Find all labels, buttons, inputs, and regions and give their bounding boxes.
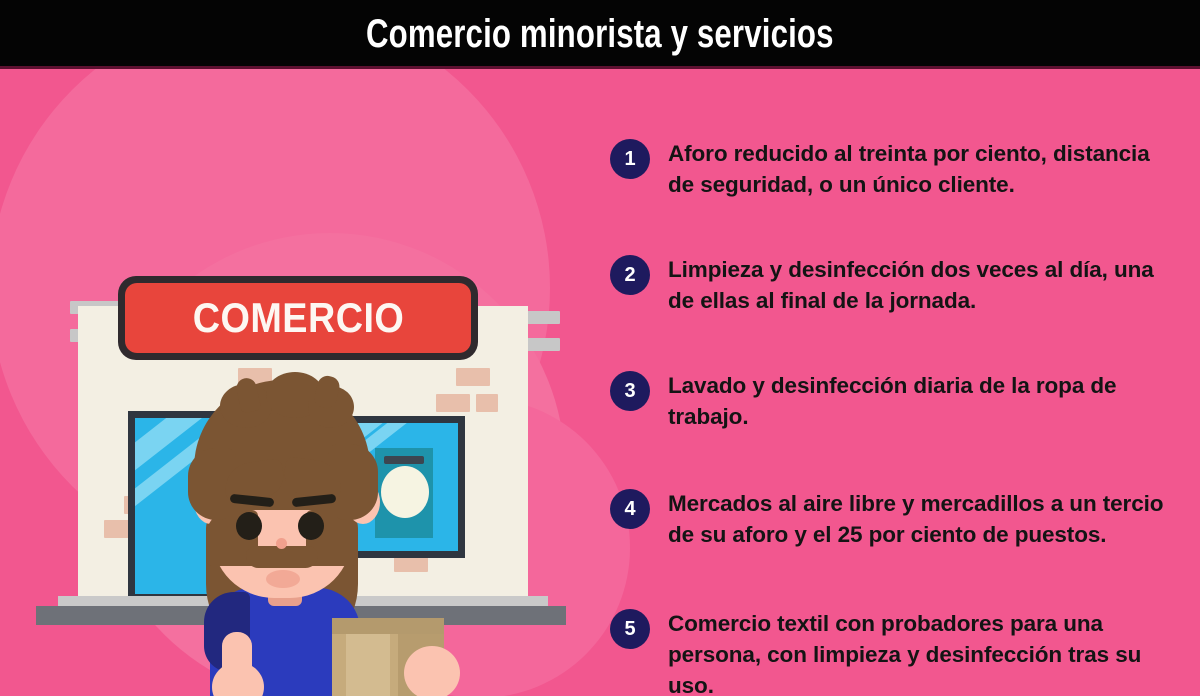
item-number-badge: 3 bbox=[610, 371, 650, 411]
infographic-page: Comercio minorista y servicios bbox=[0, 0, 1200, 696]
list-item: 3 Lavado y desinfección diaria de la rop… bbox=[610, 370, 1170, 432]
item-text: Limpieza y desinfección dos veces al día… bbox=[668, 254, 1168, 316]
item-number-badge: 1 bbox=[610, 139, 650, 179]
measures-list: 1 Aforo reducido al treinta por ciento, … bbox=[600, 68, 1200, 696]
list-item: 4 Mercados al aire libre y mercadillos a… bbox=[610, 488, 1170, 550]
character-nose bbox=[276, 538, 287, 549]
shop-sign-frame: COMERCIO bbox=[118, 276, 478, 360]
item-text: Lavado y desinfección diaria de la ropa … bbox=[668, 370, 1168, 432]
header-bar: Comercio minorista y servicios bbox=[0, 0, 1200, 68]
list-item: 2 Limpieza y desinfección dos veces al d… bbox=[610, 254, 1170, 316]
item-number-badge: 4 bbox=[610, 489, 650, 529]
paper-bag-fold bbox=[332, 618, 444, 634]
list-item: 1 Aforo reducido al treinta por ciento, … bbox=[610, 138, 1170, 200]
header-divider bbox=[0, 66, 1200, 69]
shop-sign-label: COMERCIO bbox=[192, 294, 404, 342]
character-eye-right bbox=[298, 512, 324, 540]
item-text: Comercio textil con probadores para una … bbox=[668, 608, 1168, 696]
brick-accent bbox=[456, 368, 490, 386]
character-moustache bbox=[246, 546, 318, 568]
item-text: Aforo reducido al treinta por ciento, di… bbox=[668, 138, 1168, 200]
item-number-badge: 2 bbox=[610, 255, 650, 295]
character-eye-left bbox=[236, 512, 262, 540]
brick-accent bbox=[476, 394, 498, 412]
shopkeeper-character bbox=[180, 370, 460, 696]
list-item: 5 Comercio textil con probadores para un… bbox=[610, 608, 1170, 696]
shop-sign: COMERCIO bbox=[125, 283, 471, 353]
item-text: Mercados al aire libre y mercadillos a u… bbox=[668, 488, 1168, 550]
character-hand-right bbox=[404, 646, 460, 696]
character-mouth bbox=[266, 570, 300, 588]
paper-bag-highlight bbox=[346, 632, 390, 696]
page-title: Comercio minorista y servicios bbox=[366, 12, 834, 57]
item-number-badge: 5 bbox=[610, 609, 650, 649]
